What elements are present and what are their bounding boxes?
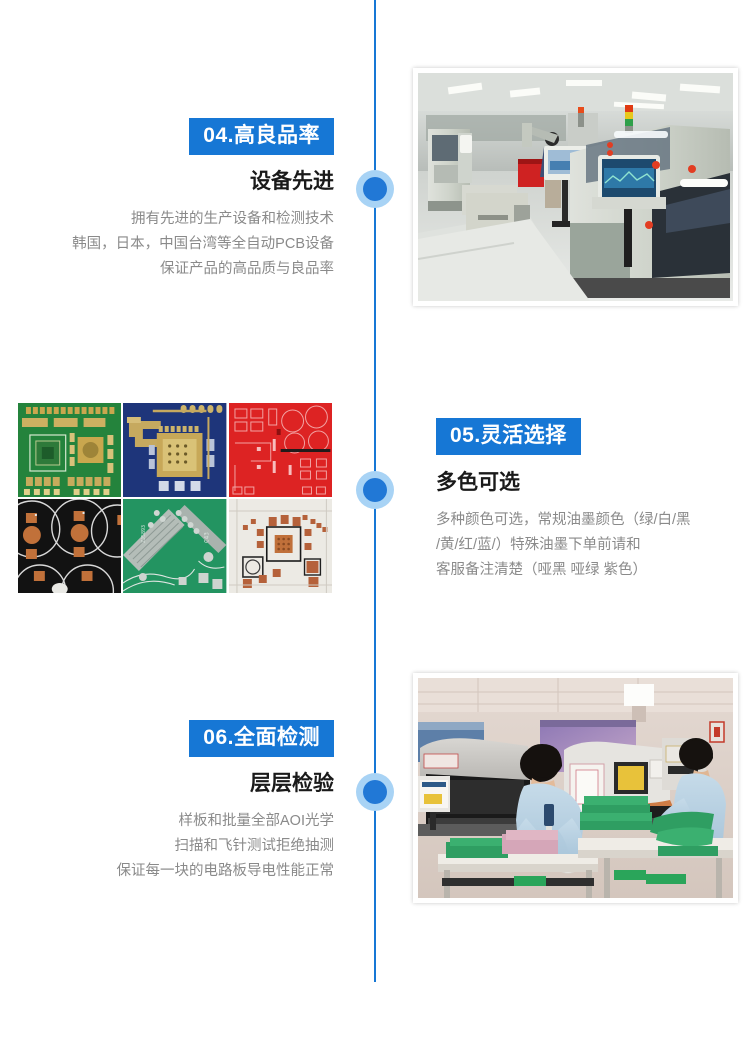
section-06-photo: [413, 673, 738, 903]
section-04-line-2: 韩国，日本，中国台湾等全自动PCB设备: [0, 232, 334, 257]
red-pcb-illustration: [229, 403, 332, 497]
pcb-cell-blue-module: [123, 403, 226, 497]
section-05-line-3: 客服备注清楚（哑黑 哑绿 紫色）: [436, 558, 736, 583]
factory-smt-line-illustration: [418, 73, 733, 301]
section-06-subtitle: 层层检验: [0, 771, 334, 796]
timeline-dot-06: [356, 773, 394, 811]
section-04-line-3: 保证产品的高品质与良品率: [0, 257, 334, 282]
blue-module-pcb-illustration: [123, 403, 226, 497]
section-04-subtitle: 设备先进: [0, 169, 334, 194]
pcb-cell-green: [18, 403, 121, 497]
section-05-badge: 05.灵活选择: [436, 418, 581, 455]
pcb-gallery: ZJ5893 C43: [18, 403, 332, 593]
svg-text:C43: C43: [204, 532, 211, 543]
timeline-dot-05: [356, 471, 394, 509]
section-05: 05.灵活选择 多色可选 多种颜色可选，常规油墨颜色（绿/白/黑 /黄/红/蓝/…: [436, 418, 736, 583]
section-06-line-2: 扫描和飞针测试拒绝抽测: [0, 834, 334, 859]
section-04-badge: 04.高良品率: [189, 118, 334, 155]
green-pcb-illustration: [18, 403, 121, 497]
section-04-photo: [413, 68, 738, 306]
green-trace-pcb-illustration: ZJ5893 C43: [123, 499, 226, 593]
section-05-subtitle: 多色可选: [436, 470, 736, 495]
pcb-cell-white: [229, 499, 332, 593]
black-led-pcb-illustration: [18, 499, 121, 593]
section-05-line-1: 多种颜色可选，常规油墨颜色（绿/白/黑: [436, 508, 736, 533]
section-06-line-3: 保证每一块的电路板导电性能正常: [0, 859, 334, 884]
pcb-cell-black-led: [18, 499, 121, 593]
timeline-dot-inner: [363, 780, 387, 804]
svg-text:ZJ5893: ZJ5893: [141, 525, 147, 543]
aoi-inspection-illustration: [418, 678, 733, 898]
timeline-dot-04: [356, 170, 394, 208]
section-04-line-1: 拥有先进的生产设备和检测技术: [0, 207, 334, 232]
section-04: 04.高良品率 设备先进 拥有先进的生产设备和检测技术 韩国，日本，中国台湾等全…: [0, 118, 334, 282]
white-pcb-illustration: [229, 499, 332, 593]
section-06: 06.全面检测 层层检验 样板和批量全部AOI光学 扫描和飞针测试拒绝抽测 保证…: [0, 720, 334, 884]
section-06-photo-image: [418, 678, 733, 898]
section-05-line-2: /黄/红/蓝/）特殊油墨下单前请和: [436, 533, 736, 558]
timeline-dot-inner: [363, 478, 387, 502]
timeline-dot-inner: [363, 177, 387, 201]
section-04-photo-image: [418, 73, 733, 301]
section-06-line-1: 样板和批量全部AOI光学: [0, 809, 334, 834]
pcb-cell-red: [229, 403, 332, 497]
section-06-badge: 06.全面检测: [189, 720, 334, 757]
pcb-cell-green-trace: ZJ5893 C43: [123, 499, 226, 593]
